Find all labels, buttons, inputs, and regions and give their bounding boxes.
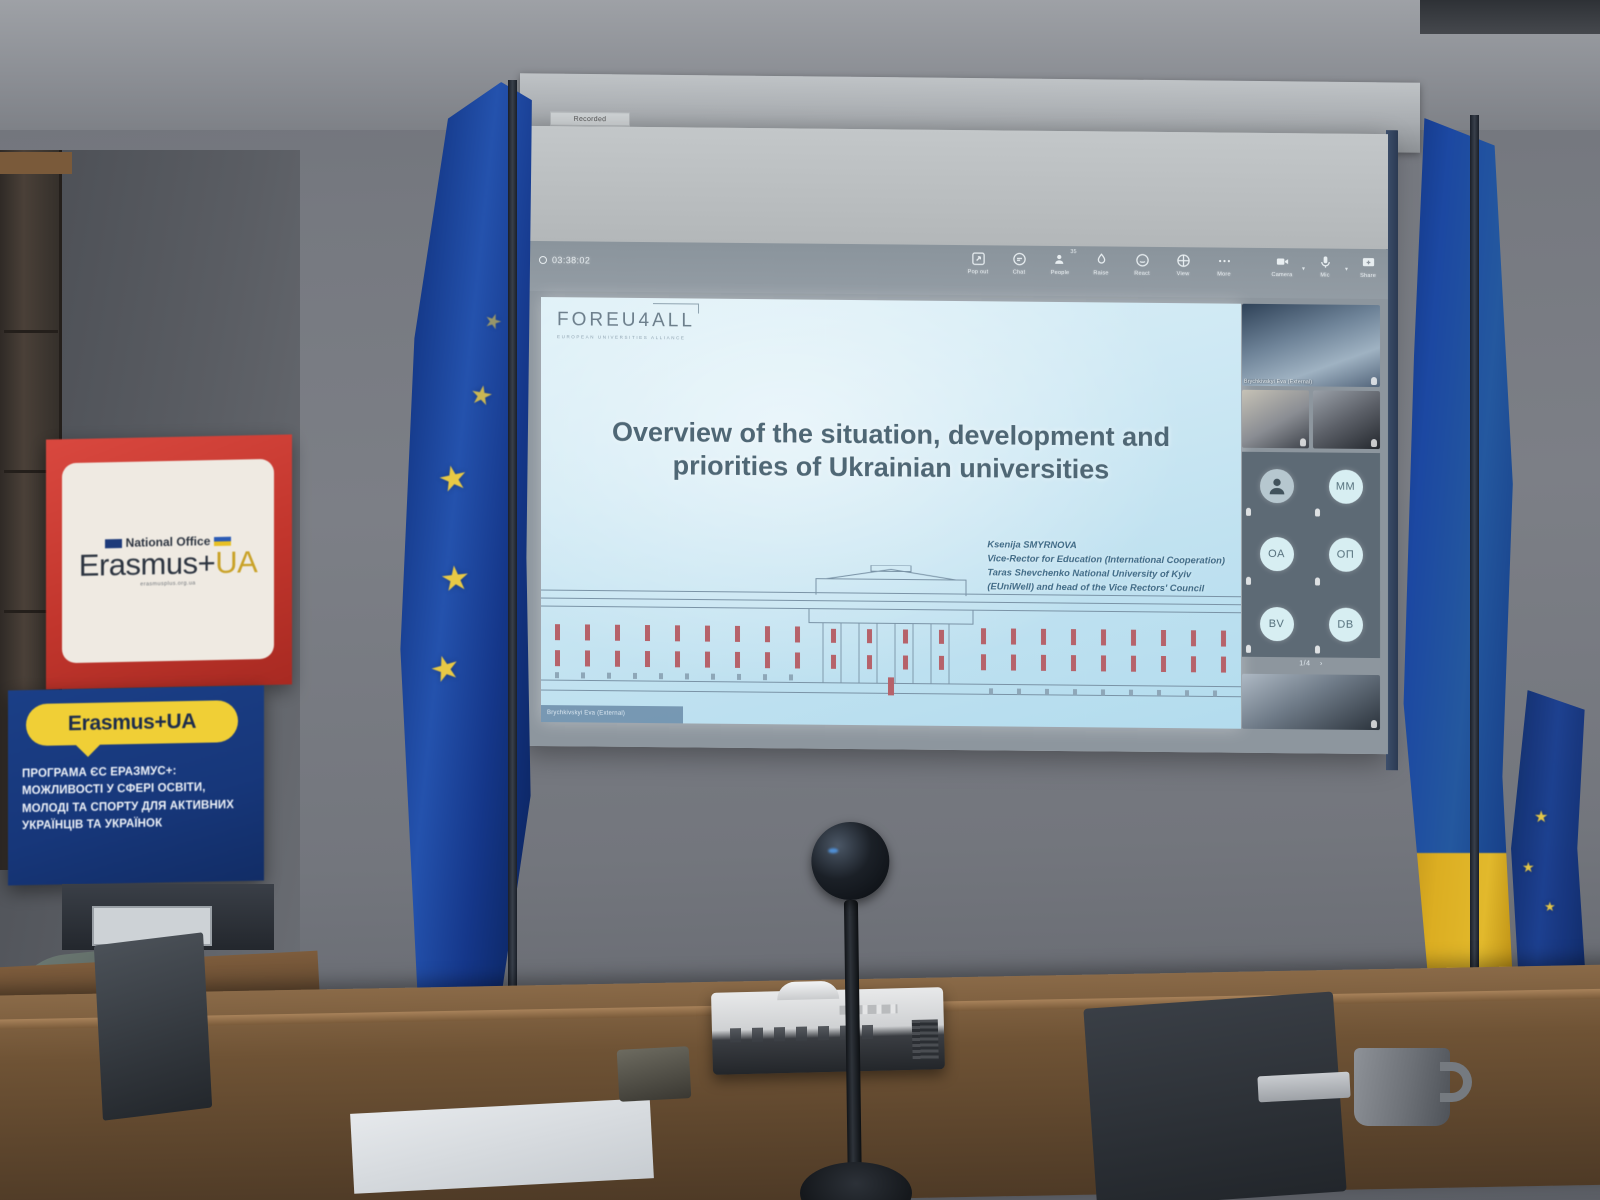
screen-blank-area: [523, 126, 1388, 249]
chat-label: Chat: [1013, 270, 1026, 276]
logo-bracket: [653, 303, 699, 313]
participant-tile[interactable]: BV: [1242, 590, 1311, 658]
meeting-window: 03:38:02 Pop out Chat: [523, 241, 1388, 754]
mic-chevron-down-icon[interactable]: ▾: [1345, 260, 1348, 273]
react-button[interactable]: React: [1127, 252, 1157, 277]
filmstrip-pager[interactable]: 1/4 ›: [1242, 660, 1380, 668]
participant-tile[interactable]: MM: [1311, 452, 1380, 521]
participant-tile[interactable]: DB: [1311, 590, 1380, 658]
foreu4all-subtitle: EUROPEAN UNIVERSITIES ALLIANCE: [557, 334, 695, 340]
camera-icon: [1274, 253, 1291, 270]
record-icon: [539, 256, 547, 264]
shared-slide[interactable]: FOREU4ALL EUROPEAN UNIVERSITIES ALLIANCE…: [541, 297, 1241, 729]
view-button[interactable]: View: [1168, 252, 1198, 277]
person-avatar-icon: [1266, 475, 1288, 497]
flag-pole-ua: [1470, 115, 1479, 1045]
view-label: View: [1177, 271, 1190, 277]
microphone-led: [828, 848, 838, 853]
participant-tile[interactable]: [1313, 390, 1380, 449]
react-icon: [1134, 252, 1151, 269]
housing-sticker: Recorded: [550, 112, 630, 127]
more-label: More: [1217, 272, 1231, 278]
share-button[interactable]: Share: [1353, 254, 1383, 279]
toolbar-actions: Pop out Chat 35 People: [963, 250, 1388, 280]
mic-icon: [1317, 253, 1334, 270]
camera-button[interactable]: Camera: [1267, 253, 1297, 278]
participant-tile[interactable]: [1242, 390, 1309, 449]
erasmus-bubble-logo: Erasmus+UA: [26, 700, 238, 746]
flag-pole-eu: [508, 80, 517, 1010]
avatar-initials: DB: [1329, 607, 1363, 641]
participant-tile[interactable]: ОП: [1311, 521, 1380, 590]
mic-button[interactable]: Mic: [1310, 253, 1340, 278]
projector-vents: [912, 1019, 939, 1060]
foreu4all-logo: FOREU4ALL EUROPEAN UNIVERSITIES ALLIANCE: [557, 309, 695, 340]
erasmus-rollup-banner: Erasmus+UA ПРОГРАМА ЄС ЕРАЗМУС+: МОЖЛИВО…: [8, 686, 264, 886]
meeting-timer: 03:38:02: [539, 255, 590, 265]
chat-button[interactable]: Chat: [1004, 250, 1034, 275]
participant-tile[interactable]: OA: [1242, 520, 1311, 589]
react-label: React: [1134, 271, 1150, 277]
pop-out-button[interactable]: Pop out: [963, 250, 993, 275]
erasmus-wordmark-left: Erasmus+: [79, 545, 215, 583]
pop-out-label: Pop out: [968, 269, 989, 275]
erasmus-logo-board: National Office Erasmus+UA erasmusplus.o…: [46, 434, 292, 689]
slide-title: Overview of the situation, development a…: [541, 415, 1241, 488]
share-label: Share: [1360, 273, 1376, 279]
mic-indicator-icon: [1246, 645, 1251, 653]
people-count: 35: [1070, 250, 1076, 256]
meeting-toolbar: 03:38:02 Pop out Chat: [523, 241, 1388, 299]
participant-filmstrip: Brychkivskyi Eva (External): [1242, 304, 1380, 730]
share-icon: [1360, 254, 1377, 271]
laptop-screen[interactable]: [94, 932, 212, 1121]
avatar-initials: ОП: [1329, 538, 1363, 572]
meeting-timer-value: 03:38:02: [552, 255, 590, 265]
raise-hand-icon: [1093, 251, 1110, 268]
projector: [711, 987, 945, 1075]
erasmus-banner-text: ПРОГРАМА ЄС ЕРАЗМУС+: МОЖЛИВОСТІ У СФЕРІ…: [22, 762, 254, 836]
mic-indicator-icon: [1246, 508, 1251, 516]
more-button[interactable]: More: [1209, 252, 1239, 277]
ceiling-panel: [1420, 0, 1600, 34]
slide-presenter-label: Brychkivskyi Eva (External): [541, 705, 683, 723]
participant-tile-main[interactable]: Brychkivskyi Eva (External): [1242, 304, 1380, 387]
chat-icon: [1011, 251, 1028, 268]
paper-documents: [350, 1098, 654, 1194]
projector-lens: [777, 981, 839, 1001]
raise-hand-label: Raise: [1093, 270, 1108, 276]
erasmus-logo-card: National Office Erasmus+UA erasmusplus.o…: [62, 459, 274, 663]
cabinet-shelf: [4, 330, 58, 333]
erasmus-wordmark-right: UA: [215, 544, 257, 580]
participant-name: Brychkivskyi Eva (External): [1244, 379, 1378, 386]
pager-value: 1/4: [1299, 660, 1310, 667]
mic-indicator-icon: [1371, 720, 1377, 728]
mic-indicator-icon: [1315, 645, 1320, 653]
room-scene: Recorded 03:38:02 Pop out: [0, 0, 1600, 1200]
coffee-mug: [1354, 1048, 1450, 1126]
erasmus-wordmark: Erasmus+UA: [79, 546, 258, 581]
mic-indicator-icon: [1246, 576, 1251, 584]
mic-indicator-icon: [1371, 439, 1377, 447]
avatar-initials: MM: [1329, 470, 1363, 504]
pop-out-icon: [970, 250, 987, 267]
erasmus-logo: National Office Erasmus+UA erasmusplus.o…: [79, 533, 258, 589]
people-label: People: [1051, 270, 1070, 276]
camera-label: Camera: [1271, 272, 1292, 278]
cabinet-top: [0, 152, 72, 174]
mic-indicator-icon: [1315, 509, 1320, 517]
camera-chevron-down-icon[interactable]: ▾: [1302, 259, 1305, 272]
chevron-right-icon[interactable]: ›: [1320, 660, 1323, 667]
people-button[interactable]: 35 People: [1045, 251, 1075, 276]
people-icon: 35: [1052, 251, 1069, 268]
remote-control[interactable]: [1257, 1072, 1350, 1103]
equipment-box: [617, 1046, 692, 1102]
participant-avatar-row: BV DB: [1242, 590, 1380, 658]
participant-tile-room[interactable]: [1242, 674, 1380, 730]
mic-indicator-icon: [1371, 377, 1377, 385]
mic-indicator-icon: [1300, 438, 1306, 446]
avatar-initials: BV: [1260, 606, 1294, 640]
avatar-initials: OA: [1260, 537, 1294, 571]
university-building-icon: [541, 562, 1241, 709]
more-icon: [1216, 252, 1233, 269]
participant-tile[interactable]: [1242, 452, 1311, 521]
raise-hand-button[interactable]: Raise: [1086, 251, 1116, 276]
view-icon: [1175, 252, 1192, 269]
projection-screen: 03:38:02 Pop out Chat: [523, 126, 1388, 754]
mic-indicator-icon: [1315, 577, 1320, 585]
mic-label: Mic: [1320, 273, 1329, 279]
